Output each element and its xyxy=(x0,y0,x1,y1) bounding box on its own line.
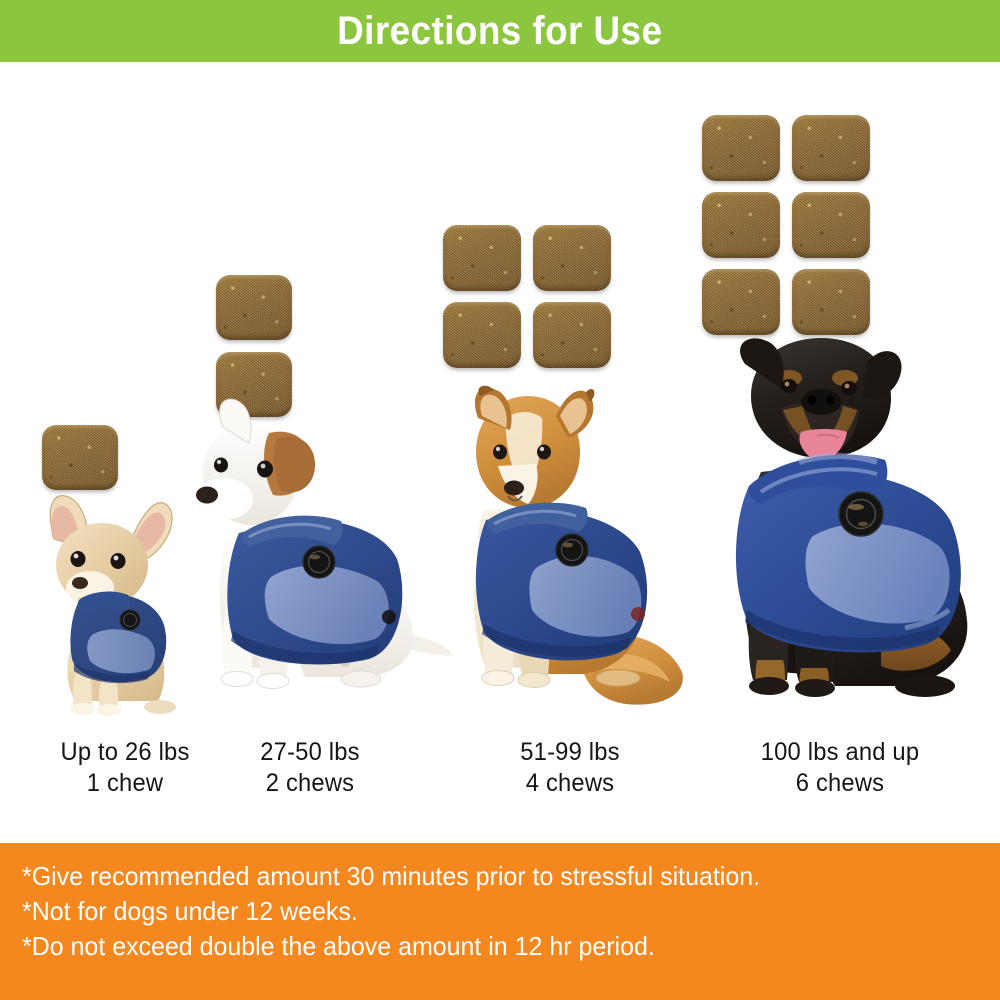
rottweiler-icon xyxy=(695,330,990,720)
weight-label: 27-50 lbs xyxy=(201,737,420,768)
chew-piece xyxy=(443,302,521,368)
dosage-group-2: 27-50 lbs 2 chews xyxy=(160,62,460,782)
header-banner: Directions for Use xyxy=(0,0,1000,62)
chew-piece xyxy=(702,192,780,258)
chew-piece xyxy=(792,115,870,181)
shetland-sheepdog-icon xyxy=(440,382,700,722)
dosage-caption-group-4: 100 lbs and up 6 chews xyxy=(726,737,954,799)
chew-piece xyxy=(702,269,780,335)
chew-piece xyxy=(792,192,870,258)
weight-label: 100 lbs and up xyxy=(726,737,954,768)
footer-note-2: *Not for dogs under 12 weeks. xyxy=(22,894,940,929)
footer-note-1: *Give recommended amount 30 minutes prio… xyxy=(22,859,940,894)
chew-piece xyxy=(702,115,780,181)
chew-piece xyxy=(443,225,521,291)
dosage-group-3: 51-99 lbs 4 chews xyxy=(435,62,705,782)
footer-notes-banner: *Give recommended amount 30 minutes prio… xyxy=(0,843,1000,1000)
dose-label: 4 chews xyxy=(461,768,680,799)
page-title: Directions for Use xyxy=(337,11,662,51)
dose-label: 6 chews xyxy=(726,768,954,799)
chew-piece xyxy=(42,425,118,490)
chew-piece xyxy=(792,269,870,335)
dosage-group-4: 100 lbs and up 6 chews xyxy=(690,62,990,782)
jack-russell-terrier-icon xyxy=(165,387,455,717)
footer-note-3: *Do not exceed double the above amount i… xyxy=(22,929,940,964)
dosage-caption-group-3: 51-99 lbs 4 chews xyxy=(461,737,680,799)
chew-piece xyxy=(533,302,611,368)
directions-illustration-stage: Up to 26 lbs 1 chew xyxy=(0,62,1000,843)
dosage-caption-group-2: 27-50 lbs 2 chews xyxy=(201,737,420,799)
dose-label: 2 chews xyxy=(201,768,420,799)
chew-piece xyxy=(216,275,292,340)
chew-piece xyxy=(533,225,611,291)
weight-label: 51-99 lbs xyxy=(461,737,680,768)
